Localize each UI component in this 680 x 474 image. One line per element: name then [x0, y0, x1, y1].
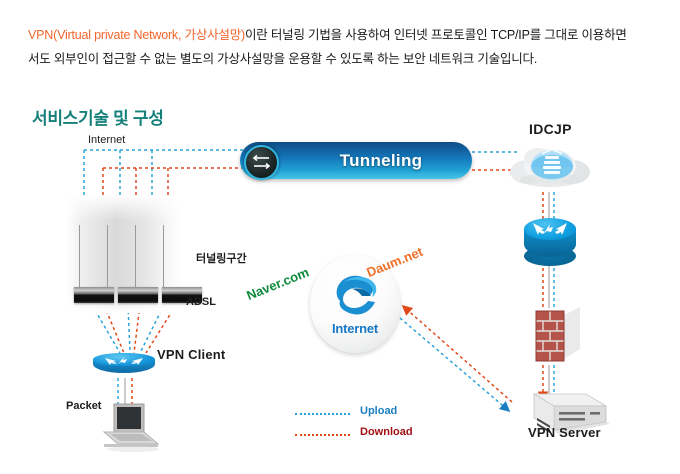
legend-item-download: Download [295, 426, 435, 447]
legend-label-upload: Upload [360, 405, 397, 417]
vpn-client-router-icon [93, 353, 155, 378]
adsl-modem-icon [118, 287, 158, 303]
packet-label: Packet [66, 400, 101, 412]
legend-line-download [295, 434, 350, 436]
vpn-client-label: VPN Client [157, 347, 225, 362]
adsl-label: ADSL [186, 296, 216, 308]
legend-line-upload [295, 413, 350, 415]
legend-label-download: Download [360, 426, 413, 438]
network-diagram: Tunneling [0, 110, 680, 474]
tunneling-banner[interactable]: Tunneling [240, 142, 472, 179]
naver-label: Naver.com [244, 264, 311, 303]
intro-paragraph: VPN(Virtual private Network, 가상사설망)이란 터널… [28, 23, 628, 71]
cloud-server-icon [508, 140, 592, 190]
legend-item-upload: Upload [295, 405, 435, 426]
adsl-modem-icon [74, 287, 114, 303]
internet-globe-label: Internet [310, 321, 400, 336]
daum-label: Daum.net [364, 244, 425, 280]
intro-highlight: VPN(Virtual private Network, 가상사설망) [28, 28, 245, 42]
legend: Upload Download [295, 405, 435, 447]
firewall-brick-icon [530, 305, 586, 367]
internet-label: Internet [88, 134, 125, 146]
router-icon [524, 218, 576, 264]
laptop-icon [100, 402, 162, 452]
tunneling-bidirectional-arrows-icon [244, 145, 279, 180]
tunneling-label: Tunneling [300, 142, 462, 179]
idcjp-label: IDCJP [529, 121, 572, 137]
vpn-server-label: VPN Server [528, 425, 601, 440]
tunnel-zone-label: 터널링구간 [196, 250, 247, 266]
